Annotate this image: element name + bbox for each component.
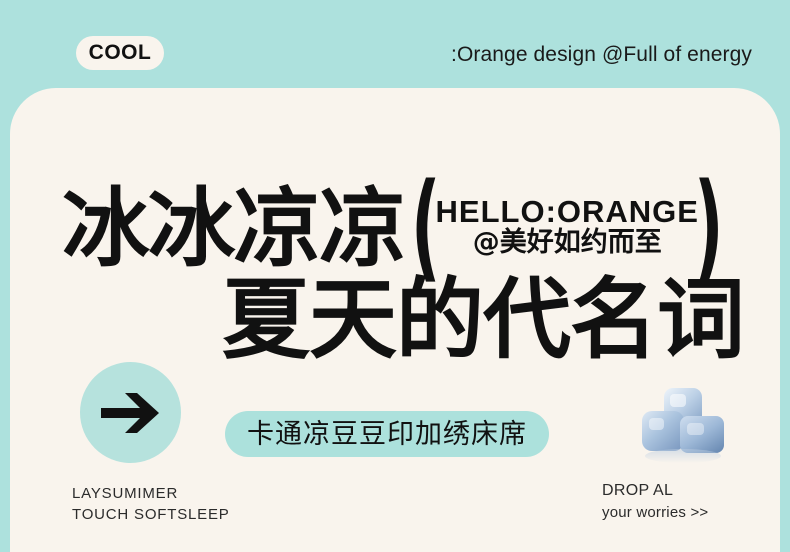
arrow-circle-button[interactable] [80,362,181,463]
paren-open: ( [411,181,440,271]
footer-left-line-1: LAYSUMIMER [72,483,230,504]
product-name-pill: 卡通凉豆豆印加绣床席 [225,411,549,457]
footer-right-line-2: your worries >> [602,502,708,524]
content-card: 冰冰凉凉 ( HELLO:ORANGE @美好如约而至 ) 夏天的代名词 卡通凉… [10,88,780,552]
footer-right-text: DROP AL your worries >> [602,480,708,524]
subtitle-cn-text: @美好如约而至 [473,228,662,258]
hello-orange-text: HELLO:ORANGE [436,195,699,228]
footer-left-text: LAYSUMIMER TOUCH SOFTSLEEP [72,483,230,525]
product-name-text: 卡通凉豆豆印加绣床席 [247,421,527,448]
ice-cubes-graphic [628,376,738,466]
footer-right-line-1: DROP AL [602,480,708,502]
headline-line-1: 冰冰凉凉 ( HELLO:ORANGE @美好如约而至 ) [62,186,733,276]
poster-canvas: COOL :Orange design @Full of energy 冰冰凉凉… [0,0,790,552]
cool-badge: COOL [76,36,164,70]
header-tagline: :Orange design @Full of energy [451,43,752,67]
footer-left-line-2: TOUCH SOFTSLEEP [72,504,230,525]
paren-close: ) [694,181,723,271]
ice-cubes-icon [628,376,738,466]
cool-badge-label: COOL [89,41,152,65]
headline-line-2: 夏天的代名词 [222,276,744,364]
paren-inner-text: HELLO:ORANGE @美好如约而至 [434,195,701,258]
arrow-right-icon [99,389,163,437]
paren-group: ( HELLO:ORANGE @美好如约而至 ) [402,186,733,266]
headline-line-1-text: 冰冰凉凉 [62,186,405,272]
